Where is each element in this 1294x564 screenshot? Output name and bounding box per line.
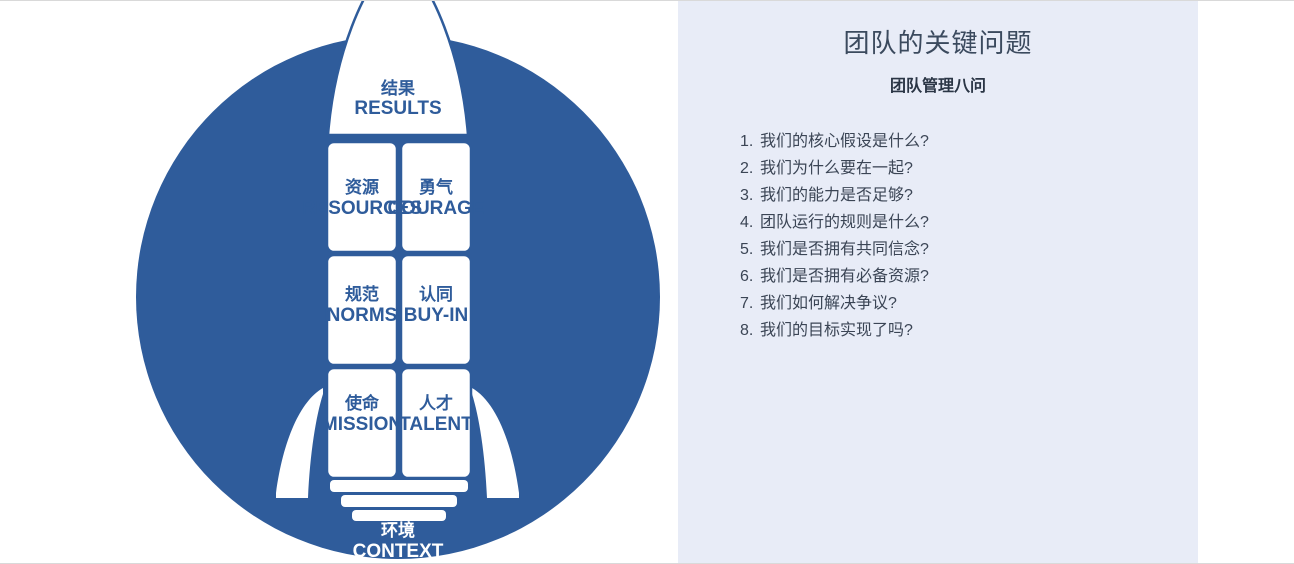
list-item-number: 5. <box>740 236 760 263</box>
cell-label-en-5: TALENT <box>399 414 473 435</box>
list-item-text: 我们为什么要在一起? <box>760 160 913 177</box>
list-item-number: 2. <box>740 155 760 182</box>
cell-courage <box>401 142 471 252</box>
list-item: 8.我们的目标实现了吗? <box>740 317 1198 344</box>
slide-canvas: 结果 RESULTS 资源 RESOURCES 勇气 COURAGE 规范 NO… <box>0 0 1294 564</box>
list-item-text: 我们如何解决争议? <box>760 295 897 312</box>
list-item-number: 4. <box>740 209 760 236</box>
list-item-text: 我们是否拥有必备资源? <box>760 268 929 285</box>
nose-label-en: RESULTS <box>354 98 441 119</box>
cell-label-en-1: COURAGE <box>387 198 484 219</box>
base-label-en: CONTEXT <box>353 541 444 562</box>
list-item-text: 我们的目标实现了吗? <box>760 322 913 339</box>
question-list: 1.我们的核心假设是什么?2.我们为什么要在一起?3.我们的能力是否足够?4.团… <box>678 96 1198 344</box>
cell-label-cn-5: 人才 <box>419 393 453 413</box>
cell-label-en-4: MISSION <box>322 414 402 435</box>
list-item-number: 3. <box>740 182 760 209</box>
list-item-text: 我们的能力是否足够? <box>760 187 913 204</box>
list-item: 4.团队运行的规则是什么? <box>740 209 1198 236</box>
list-item-text: 我们是否拥有共同信念? <box>760 241 929 258</box>
list-item-number: 7. <box>740 290 760 317</box>
list-item: 3.我们的能力是否足够? <box>740 182 1198 209</box>
rocket-illustration: 结果 RESULTS 资源 RESOURCES 勇气 COURAGE 规范 NO… <box>0 1 678 563</box>
list-item: 1.我们的核心假设是什么? <box>740 128 1198 155</box>
list-item: 6.我们是否拥有必备资源? <box>740 263 1198 290</box>
page-subtitle: 团队管理八问 <box>678 60 1198 96</box>
list-item-text: 我们的核心假设是什么? <box>760 133 929 150</box>
cell-label-cn-0: 资源 <box>345 177 379 197</box>
page-title: 团队的关键问题 <box>678 1 1198 60</box>
base-label-cn: 环境 <box>381 520 415 540</box>
nose-label-cn: 结果 <box>381 78 415 98</box>
list-item: 5.我们是否拥有共同信念? <box>740 236 1198 263</box>
list-item-number: 6. <box>740 263 760 290</box>
list-item-number: 1. <box>740 128 760 155</box>
engine-bar-1 <box>330 480 468 492</box>
engine-bar-3 <box>352 510 446 521</box>
questions-panel: 团队的关键问题 团队管理八问 1.我们的核心假设是什么?2.我们为什么要在一起?… <box>678 1 1198 563</box>
cell-label-cn-3: 认同 <box>419 284 453 304</box>
cell-label-en-3: BUY-IN <box>404 305 468 326</box>
cell-label-cn-1: 勇气 <box>419 177 453 197</box>
cell-resources <box>327 142 397 252</box>
list-item: 2.我们为什么要在一起? <box>740 155 1198 182</box>
list-item-text: 团队运行的规则是什么? <box>760 214 929 231</box>
cell-label-cn-4: 使命 <box>344 393 380 413</box>
list-item: 7.我们如何解决争议? <box>740 290 1198 317</box>
cell-label-en-2: NORMS <box>327 305 398 326</box>
list-item-number: 8. <box>740 317 760 344</box>
rocket-svg: 结果 RESULTS 资源 RESOURCES 勇气 COURAGE 规范 NO… <box>0 1 678 563</box>
engine-bar-2 <box>341 495 457 507</box>
cell-label-cn-2: 规范 <box>345 284 379 304</box>
